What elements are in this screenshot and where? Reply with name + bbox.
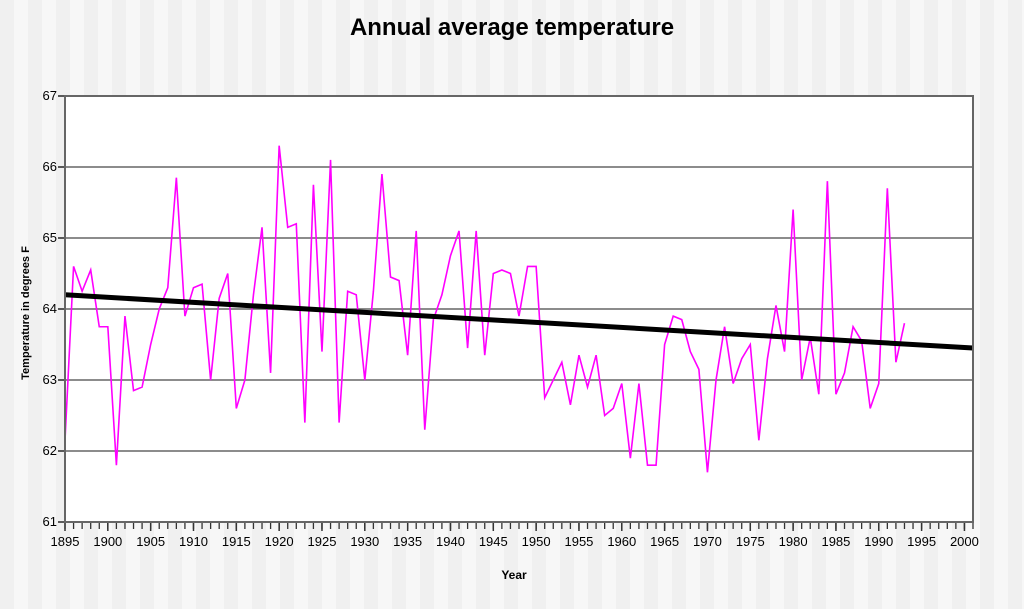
y-major-ticks — [58, 96, 65, 522]
y-tick-label: 64 — [23, 302, 57, 315]
y-tick-label: 62 — [23, 444, 57, 457]
x-tick-label: 1940 — [428, 535, 472, 548]
x-tick-label: 1950 — [514, 535, 558, 548]
chart-title: Annual average temperature — [0, 14, 1024, 42]
plot-area — [65, 96, 973, 522]
y-tick-label: 65 — [23, 231, 57, 244]
x-tick-label: 1895 — [43, 535, 87, 548]
x-tick-label: 1930 — [343, 535, 387, 548]
x-tick-label: 1975 — [728, 535, 772, 548]
x-tick-label: 1960 — [600, 535, 644, 548]
chart-container: Annual average temperature Temperature i… — [0, 0, 1024, 609]
y-tick-label: 61 — [23, 515, 57, 528]
x-tick-label: 1910 — [171, 535, 215, 548]
x-tick-label: 2000 — [942, 535, 986, 548]
x-tick-label: 1920 — [257, 535, 301, 548]
x-tick-label: 1955 — [557, 535, 601, 548]
x-axis-title: Year — [55, 568, 973, 582]
x-tick-label: 1900 — [86, 535, 130, 548]
x-tick-label: 1935 — [386, 535, 430, 548]
x-tick-label: 1905 — [129, 535, 173, 548]
plot-svg — [65, 96, 973, 522]
y-tick-label: 67 — [23, 89, 57, 102]
y-tick-label: 66 — [23, 160, 57, 173]
y-tick-label: 63 — [23, 373, 57, 386]
x-tick-label: 1945 — [471, 535, 515, 548]
x-tick-label: 1970 — [685, 535, 729, 548]
x-tick-label: 1915 — [214, 535, 258, 548]
x-major-ticks — [65, 522, 964, 531]
x-tick-label: 1965 — [643, 535, 687, 548]
x-tick-label: 1985 — [814, 535, 858, 548]
x-tick-label: 1980 — [771, 535, 815, 548]
x-tick-label: 1995 — [900, 535, 944, 548]
x-minor-ticks — [65, 522, 973, 529]
x-tick-label: 1925 — [300, 535, 344, 548]
x-tick-label: 1990 — [857, 535, 901, 548]
